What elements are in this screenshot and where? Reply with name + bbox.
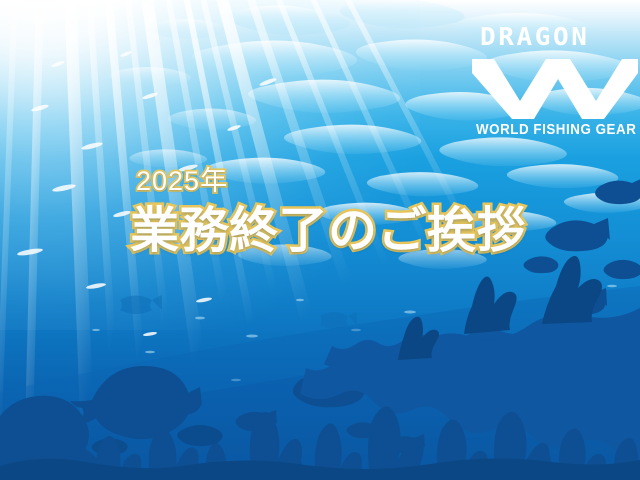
headline-text: 業務終了のご挨拶 — [130, 202, 526, 260]
brand-logo[interactable]: DRAGON WORLD FISHING GEAR — [466, 22, 640, 138]
underwater-greeting-banner: 2025年 業務終了のご挨拶 DRAGON WORLD FISHING GEAR — [0, 0, 640, 480]
title-block: 2025年 業務終了のご挨拶 — [130, 164, 526, 260]
brand-wordmark: DRAGON — [480, 22, 640, 51]
year-label: 2025年 — [136, 164, 526, 198]
brand-tagline: WORLD FISHING GEAR — [476, 122, 632, 138]
zigzag-wave-mark-icon — [470, 53, 638, 119]
